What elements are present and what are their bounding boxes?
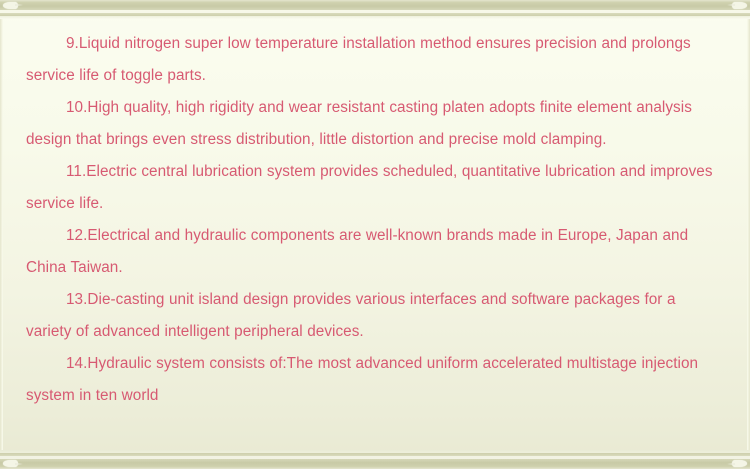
corner-ornament-bottom-left-icon [1,459,23,468]
top-decorative-border [0,0,750,19]
document-text-body: 9.Liquid nitrogen super low temperature … [0,19,750,412]
corner-ornament-bottom-right-icon [727,459,749,468]
corner-ornament-top-left-icon [1,1,23,10]
document-page: 9.Liquid nitrogen super low temperature … [0,0,750,469]
top-border-thick-bar [0,0,750,10]
ornament-stem-shape [727,463,735,465]
bottom-border-thick-bar [0,459,750,469]
corner-ornament-top-right-icon [727,1,749,10]
list-item: 14.Hydraulic system consists of:The most… [26,348,722,412]
ornament-stem-shape [15,463,23,465]
bottom-decorative-border [0,450,750,469]
list-item: 13.Die-casting unit island design provid… [26,284,722,348]
list-item: 10.High quality, high rigidity and wear … [26,92,722,156]
list-item: 12.Electrical and hydraulic components a… [26,220,722,284]
list-item: 11.Electric central lubrication system p… [26,156,722,220]
list-item: 9.Liquid nitrogen super low temperature … [26,28,722,92]
ornament-stem-shape [15,4,23,6]
ornament-stem-shape [727,4,735,6]
